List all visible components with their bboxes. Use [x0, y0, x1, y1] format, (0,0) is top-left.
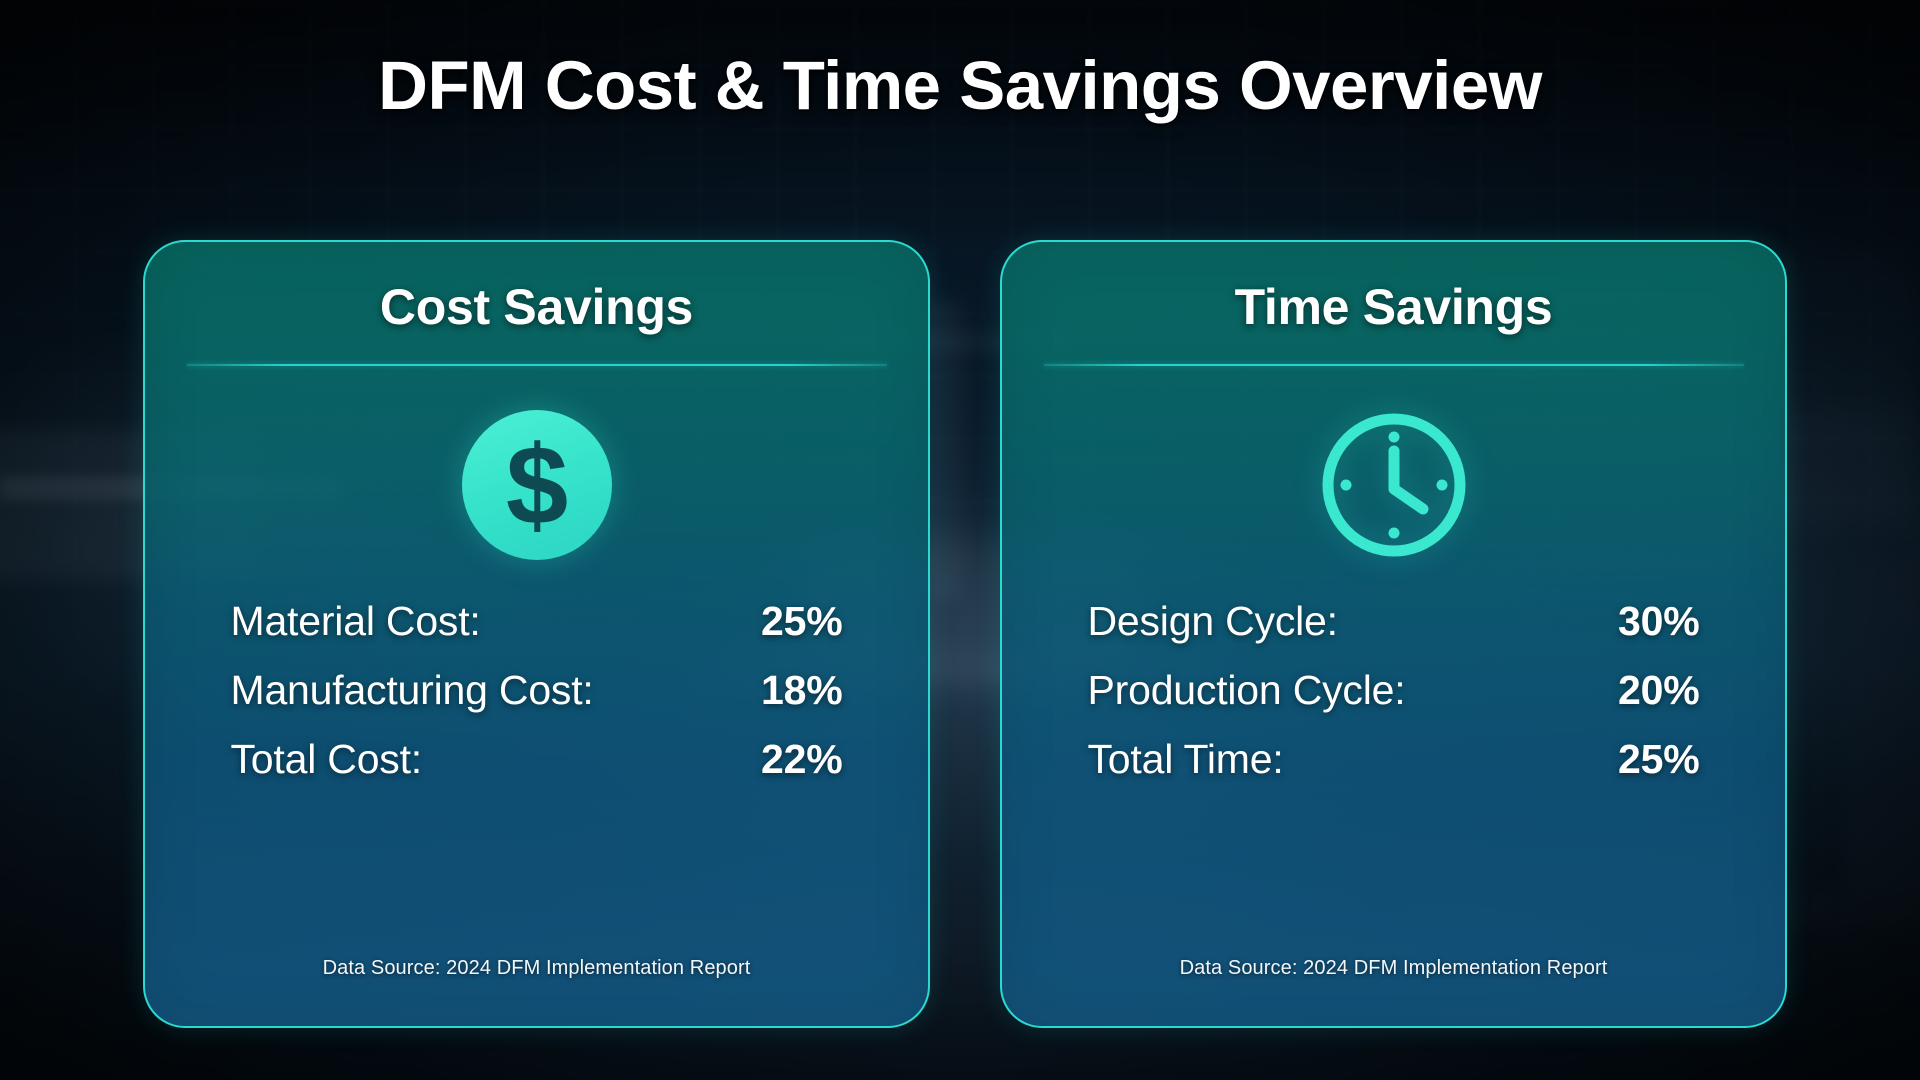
metric-value: 25% — [1618, 736, 1699, 783]
metric-label: Total Time: — [1088, 736, 1284, 783]
metrics-list-time-savings: Design Cycle: 30% Production Cycle: 20% … — [1088, 598, 1700, 805]
metric-label: Manufacturing Cost: — [231, 667, 594, 714]
data-source-footnote: Data Source: 2024 DFM Implementation Rep… — [145, 957, 928, 980]
cards-container: Cost Savings $ Mat — [143, 240, 1787, 1028]
icon-container: $ — [145, 406, 928, 564]
metric-value: 22% — [761, 736, 842, 783]
icon-container — [1002, 406, 1785, 564]
metric-value: 18% — [761, 667, 842, 714]
background-cabinet-right — [1845, 560, 1920, 890]
metric-value: 30% — [1618, 598, 1699, 645]
card-divider — [187, 364, 887, 366]
metric-value: 25% — [761, 598, 842, 645]
svg-text:$: $ — [505, 423, 567, 548]
metric-row: Design Cycle: 30% — [1088, 598, 1700, 667]
metric-label: Production Cycle: — [1088, 667, 1406, 714]
dollar-circle-icon: $ — [461, 409, 613, 561]
metric-label: Material Cost: — [231, 598, 481, 645]
card-title-cost-savings: Cost Savings — [145, 278, 928, 336]
clock-icon — [1318, 409, 1470, 561]
metric-row: Material Cost: 25% — [231, 598, 843, 667]
metric-row: Total Cost: 22% — [231, 736, 843, 805]
slide-canvas: DFM Cost & Time Savings Overview Cost Sa… — [0, 0, 1920, 1080]
card-time-savings: Time Savings Design Cycle: 30% — [1000, 240, 1787, 1028]
metric-row: Production Cycle: 20% — [1088, 667, 1700, 736]
metric-label: Total Cost: — [231, 736, 423, 783]
metrics-list-cost-savings: Material Cost: 25% Manufacturing Cost: 1… — [231, 598, 843, 805]
card-cost-savings: Cost Savings $ Mat — [143, 240, 930, 1028]
metric-value: 20% — [1618, 667, 1699, 714]
data-source-footnote: Data Source: 2024 DFM Implementation Rep… — [1002, 957, 1785, 980]
metric-row: Manufacturing Cost: 18% — [231, 667, 843, 736]
metric-row: Total Time: 25% — [1088, 736, 1700, 805]
card-divider — [1044, 364, 1744, 366]
page-title: DFM Cost & Time Savings Overview — [0, 46, 1920, 125]
metric-label: Design Cycle: — [1088, 598, 1338, 645]
card-title-time-savings: Time Savings — [1002, 278, 1785, 336]
